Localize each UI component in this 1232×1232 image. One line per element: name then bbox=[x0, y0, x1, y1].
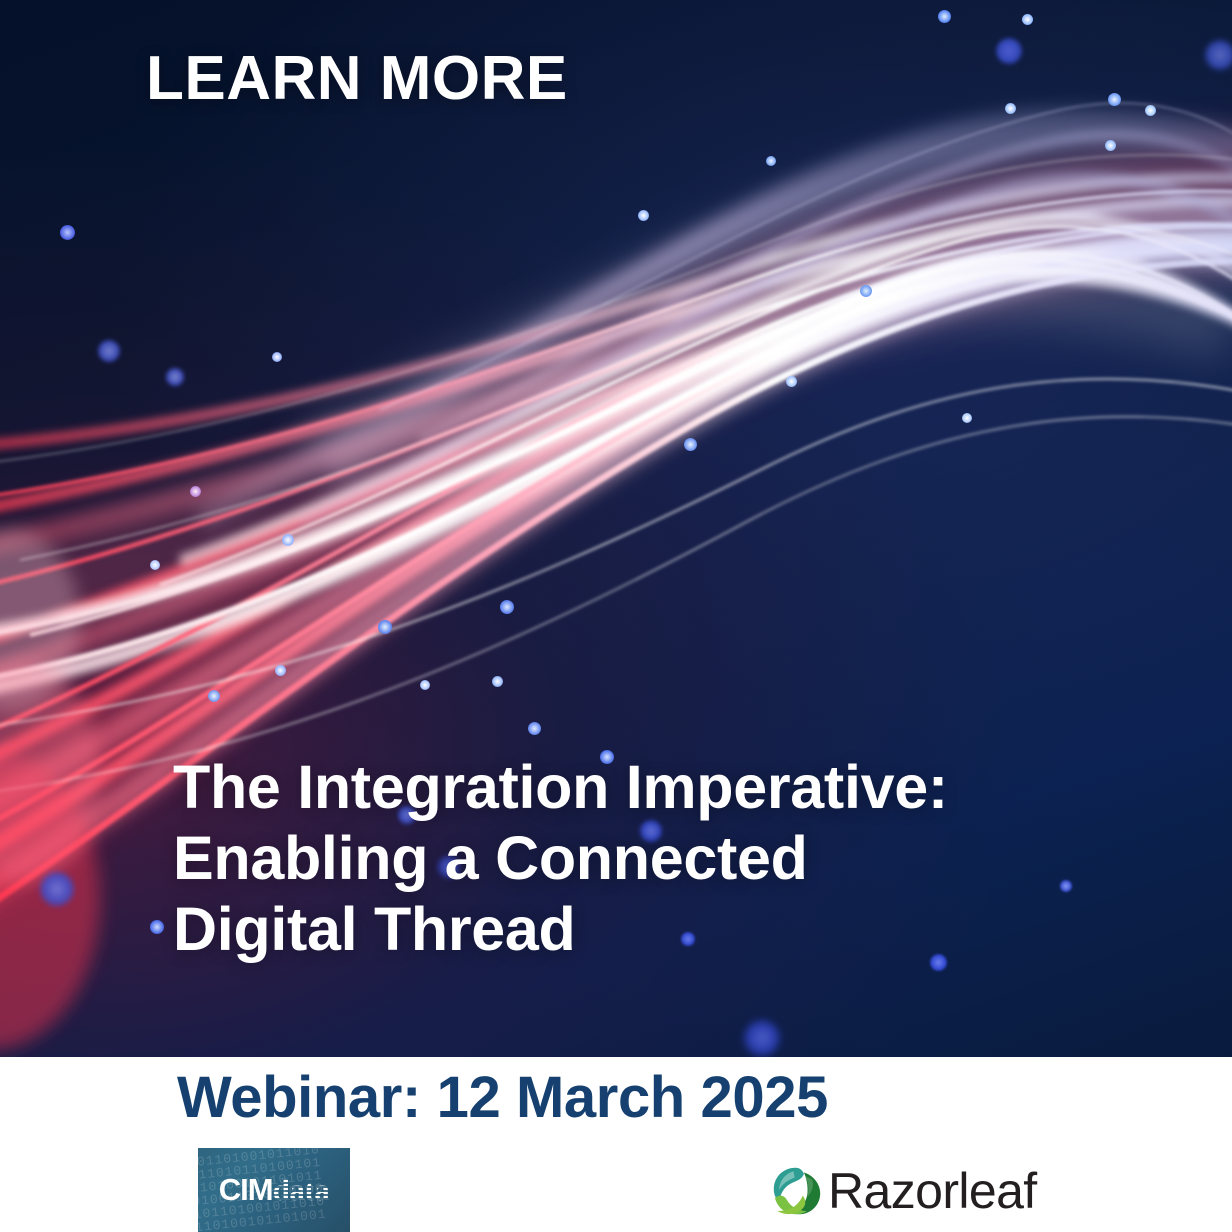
razorleaf-leaf-icon bbox=[768, 1162, 826, 1220]
headline-line-3: Digital Thread bbox=[173, 894, 1053, 965]
razorleaf-logo: Razorleaf bbox=[768, 1156, 1037, 1226]
learn-more-eyebrow: LEARN MORE bbox=[146, 48, 568, 110]
cimdata-secondary-text: data bbox=[273, 1172, 330, 1208]
webinar-date-text: Webinar: 12 March 2025 bbox=[177, 1066, 828, 1130]
page-title: The Integration Imperative: Enabling a C… bbox=[173, 752, 1053, 964]
razorleaf-wordmark: Razorleaf bbox=[828, 1166, 1037, 1216]
headline-line-2: Enabling a Connected bbox=[173, 823, 1053, 894]
cimdata-wordmark: CIMdata bbox=[198, 1148, 350, 1232]
cimdata-logo: 101101001011010 011010110100101 11010010… bbox=[198, 1148, 350, 1232]
headline-line-1: The Integration Imperative: bbox=[173, 752, 1053, 823]
webinar-promo-poster: LEARN MORE The Integration Imperative: E… bbox=[0, 0, 1232, 1232]
cimdata-primary-text: CIM bbox=[219, 1172, 273, 1208]
